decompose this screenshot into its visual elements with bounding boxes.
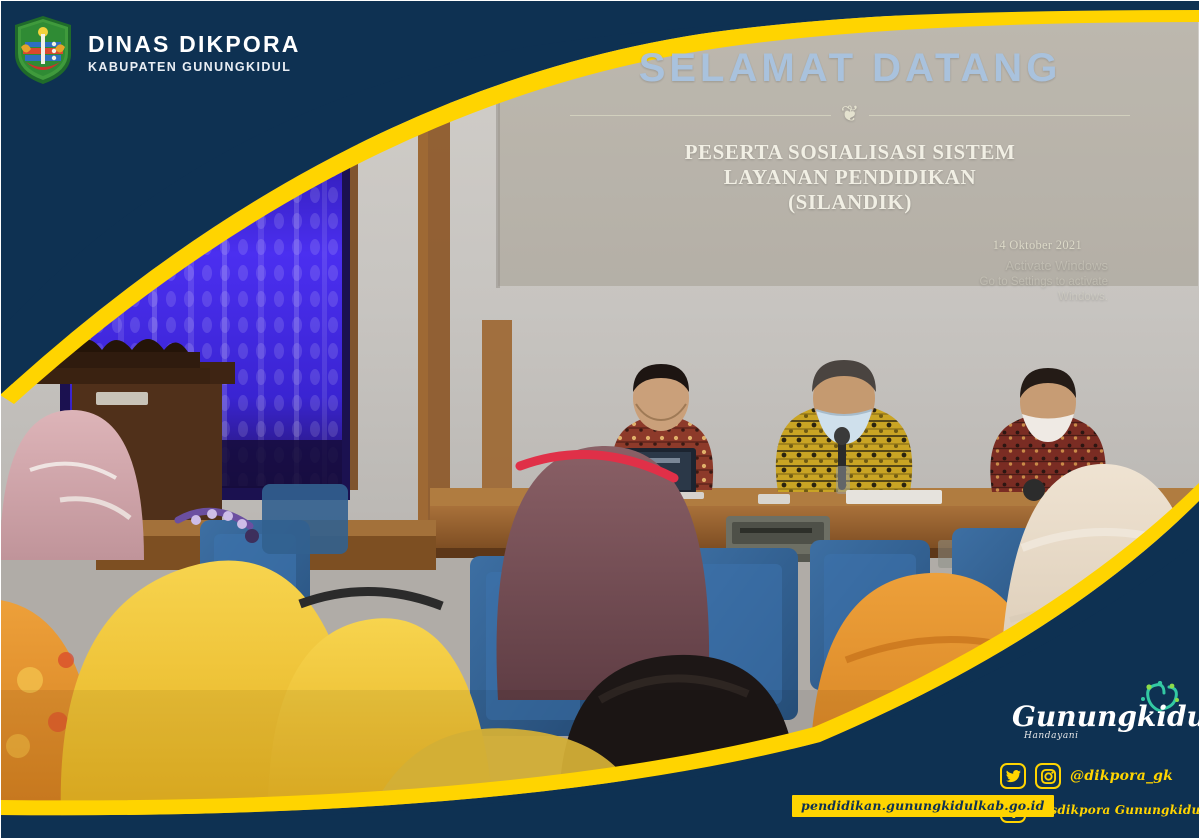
windows-activation-watermark: Activate Windows Go to Settings to activ… bbox=[530, 257, 1170, 306]
slide-title: SELAMAT DATANG bbox=[530, 48, 1170, 88]
brand-tagline: Handayani bbox=[1024, 731, 1079, 741]
brand-logo-text: Gunungkidul bbox=[1012, 703, 1200, 731]
slide-ornament-row: ❦ bbox=[570, 104, 1130, 126]
social-row-top: @dikpora_gk bbox=[1000, 763, 1190, 789]
instagram-icon[interactable] bbox=[1035, 763, 1061, 789]
floral-ornament-icon: ❦ bbox=[841, 104, 859, 126]
header-title: DINAS DIKPORA bbox=[88, 32, 301, 56]
slide-body-line-3: (SILANDIK) bbox=[530, 190, 1170, 215]
header-subtitle: KABUPATEN GUNUNGKIDUL bbox=[88, 60, 301, 74]
gunungkidul-brand-block: Gunungkidul Handayani bbox=[1006, 681, 1182, 743]
twitter-icon[interactable] bbox=[1000, 763, 1026, 789]
brand-mark: Gunungkidul Handayani bbox=[1006, 681, 1182, 743]
website-url[interactable]: pendidikan.gunungkidulkab.go.id bbox=[792, 795, 1054, 817]
poster-header: DINAS DIKPORA KABUPATEN GUNUNGKIDUL bbox=[0, 0, 301, 86]
slide-body-line-2: LAYANAN PENDIDIKAN bbox=[530, 165, 1170, 190]
instagram-handle[interactable]: @dikpora_gk bbox=[1070, 768, 1173, 784]
slide-rule-left bbox=[570, 115, 831, 116]
slide-date: 14 Oktober 2021 bbox=[530, 238, 1170, 253]
projection-slide: SELAMAT DATANG ❦ PESERTA SOSIALISASI SIS… bbox=[530, 30, 1170, 295]
header-text-block: DINAS DIKPORA KABUPATEN GUNUNGKIDUL bbox=[88, 26, 301, 73]
slide-body-line-1: PESERTA SOSIALISASI SISTEM bbox=[530, 140, 1170, 165]
poster-root: DINAS DIKPORA KABUPATEN GUNUNGKIDUL SELA… bbox=[0, 0, 1200, 839]
gunungkidul-regency-crest-icon bbox=[12, 14, 74, 86]
watermark-line-2: Go to Settings to activate bbox=[530, 275, 1108, 291]
slide-rule-right bbox=[869, 115, 1130, 116]
facebook-handle[interactable]: Disdikpora Gunungkidul bbox=[1035, 803, 1200, 817]
watermark-line-1: Activate Windows bbox=[530, 257, 1108, 275]
watermark-line-3: Windows. bbox=[530, 290, 1108, 306]
slide-body: PESERTA SOSIALISASI SISTEM LAYANAN PENDI… bbox=[530, 140, 1170, 214]
